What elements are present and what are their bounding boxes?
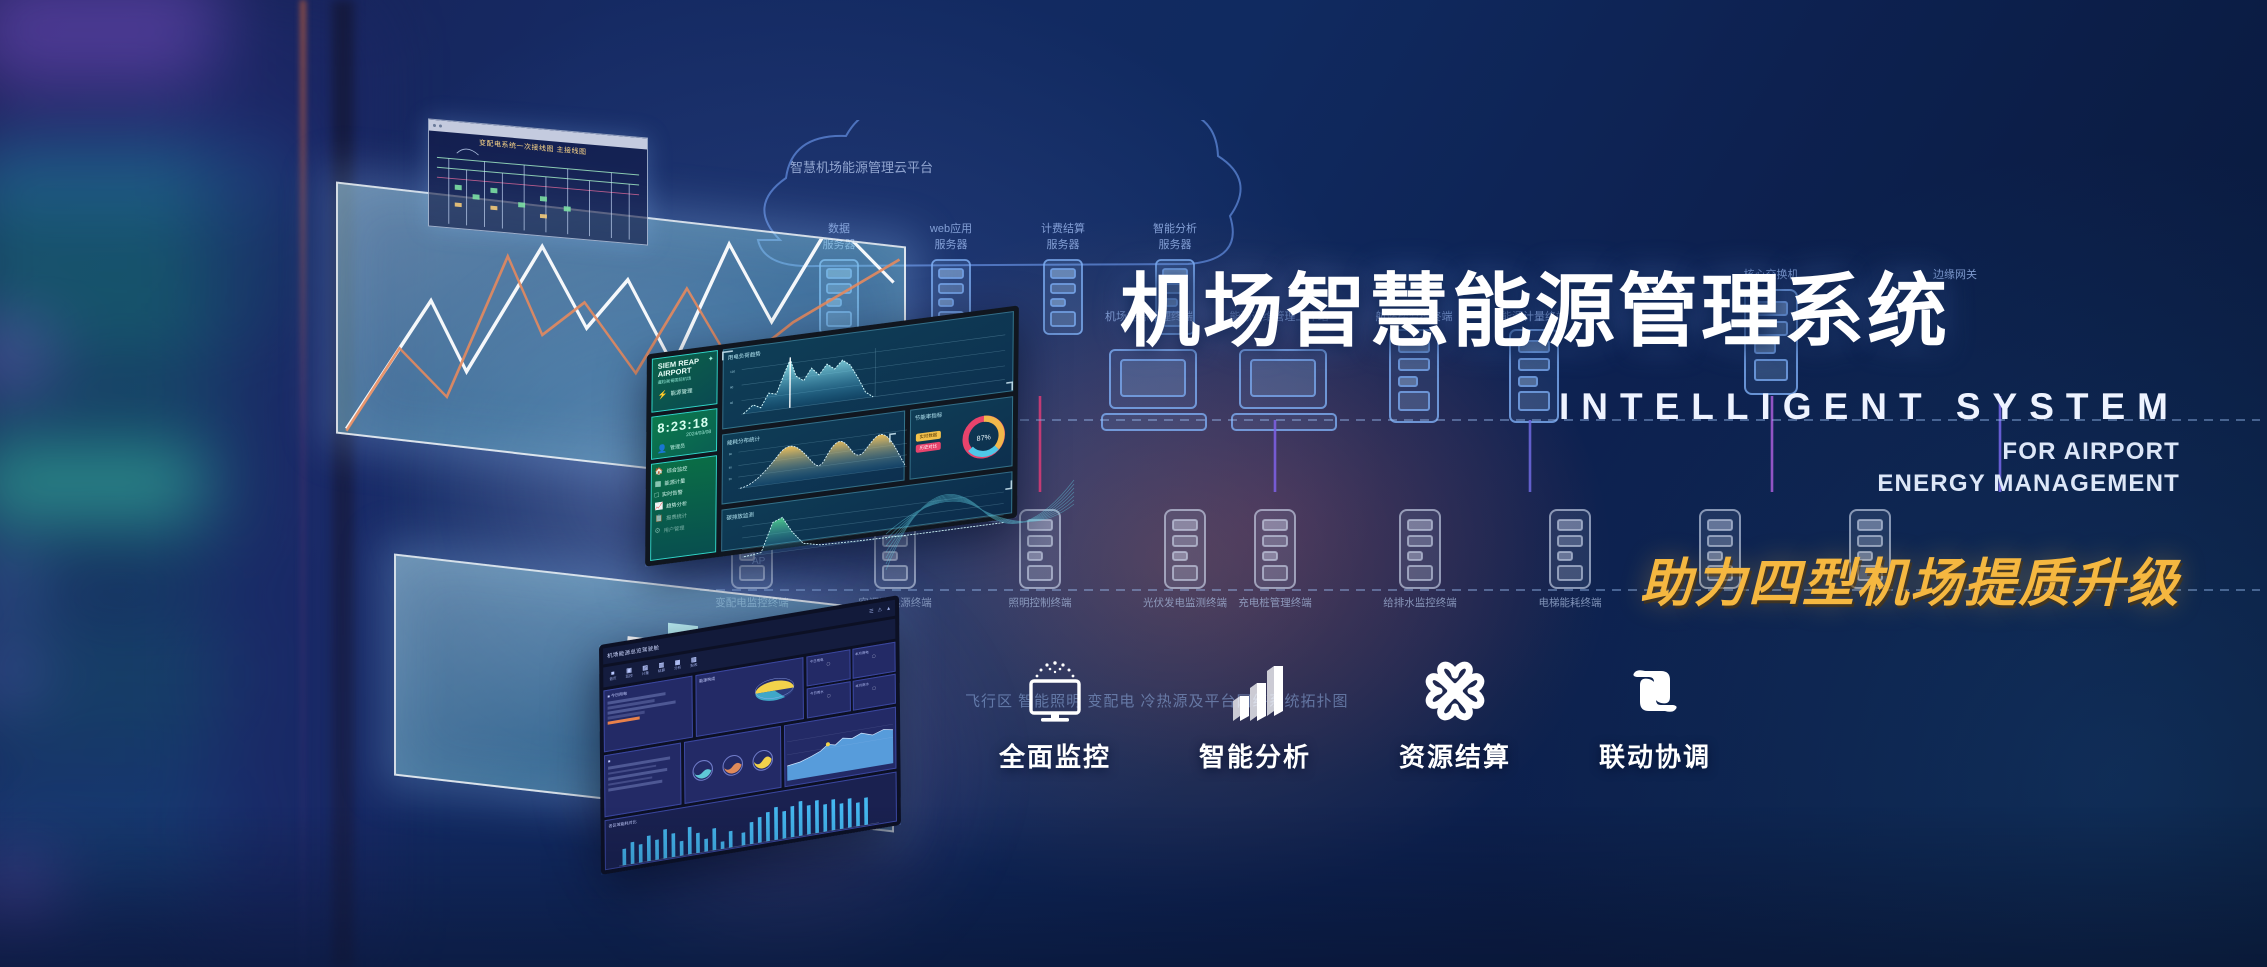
headline-english-sub: FOR AIRPORT ENERGY MANAGEMENT	[1120, 436, 2180, 499]
energy-icon: ⚡	[658, 389, 668, 399]
cloud-node-label: 计费结算	[1041, 221, 1085, 235]
monitor-signal-icon	[1019, 655, 1091, 727]
cloud-node-label: web应用	[929, 221, 972, 235]
cloud-node-label: 服务器	[935, 238, 968, 251]
headline-english-sub-line1: FOR AIRPORT	[2002, 438, 2180, 465]
tab[interactable]: ▥结算	[658, 661, 665, 674]
trend-icon: 📈	[655, 502, 664, 511]
cloud-node-label: 服务器	[1159, 238, 1192, 251]
topology-terminal-label: 照明控制终端	[1009, 596, 1072, 609]
feature-label: 资源结算	[1360, 737, 1550, 774]
svg-text:90: 90	[729, 452, 733, 456]
cloud-node-label: 数据	[828, 221, 850, 235]
feature-item-coordination[interactable]: 联动协调	[1560, 655, 1750, 774]
feature-label: 联动协调	[1560, 737, 1750, 774]
cloud-node-label: 服务器	[1047, 238, 1080, 251]
tab[interactable]: ■首页	[609, 670, 616, 682]
feature-item-settlement[interactable]: 资源结算	[1360, 655, 1550, 774]
report-icon: 📋	[654, 514, 663, 523]
brand-cn: 能源管理	[670, 387, 692, 398]
feature-label: 全面监控	[960, 737, 1150, 774]
dashboard2-title: 机场能源总览驾驶舱	[607, 643, 659, 660]
bar-chart-3d-icon	[1219, 655, 1291, 727]
alarm-icon: □	[655, 492, 659, 500]
feature-list: 全面监控 智能分析	[960, 655, 1840, 785]
gauge-power	[751, 746, 774, 773]
gauge-water	[692, 756, 715, 783]
headline-english-sub-line2: ENERGY MANAGEMENT	[1877, 470, 2180, 497]
dashboard-sidebar: ✦ SIEM REAP AIRPORT 暹粒吴哥国际机场 ⚡ 能源管理 8:23…	[650, 350, 718, 561]
headline-tagline: 助力四型机场提质升级	[1120, 541, 2180, 616]
tab[interactable]: ▤计量	[642, 664, 649, 677]
tab[interactable]: ▦分析	[674, 658, 681, 671]
dashboard-nav[interactable]: 🏠综合监控 ▦能源计量 □实时告警 📈趋势分析 📋报表统计 ⚙用户管理	[650, 455, 717, 561]
dashboard2-kpi-grid: 今日用电◌ 本月用电◌ 今日用水◌ 本月用水◌	[807, 642, 896, 719]
filter-icon[interactable]: ☰	[869, 608, 874, 615]
bell-icon[interactable]: ⚠	[878, 607, 883, 614]
cloud-node-label: 智能分析	[1153, 221, 1197, 235]
schematic-window: 变配电系统一次接线图 主接线图	[428, 118, 648, 245]
topology-cloud-title: 智慧机场能源管理云平台	[790, 160, 933, 175]
svg-text:80: 80	[730, 385, 734, 389]
feature-label: 智能分析	[1160, 737, 1350, 774]
tab[interactable]: ▣监控	[625, 667, 632, 680]
feature-item-monitoring[interactable]: 全面监控	[960, 655, 1150, 774]
banner-root: 智慧机场能源管理云平台 数据 服务器 web应用 服务器 计费结算 服务器 智能…	[0, 0, 2267, 967]
dashboard-clock-card: 8:23:18 2024/03/08 👤 管理员	[651, 408, 717, 460]
svg-text:60: 60	[729, 465, 733, 469]
page-title: 机场智慧能源管理系统	[1120, 272, 2180, 352]
user-icon: 👤	[657, 444, 667, 454]
interlocking-links-icon	[1619, 655, 1691, 727]
svg-text:30: 30	[729, 477, 733, 481]
dashboard-brand: ✦ SIEM REAP AIRPORT 暹粒吴哥国际机场 ⚡ 能源管理	[651, 350, 717, 413]
meter-icon: ▦	[655, 479, 662, 488]
tab[interactable]: ▧报表	[690, 656, 697, 669]
avatar[interactable]: ▲	[886, 605, 891, 612]
svg-text:40: 40	[730, 401, 734, 405]
dashboard2-info-card: ■ 今日用电	[603, 676, 692, 753]
user-label: 管理员	[670, 442, 685, 451]
gauge-gas	[721, 751, 744, 778]
wireframe-mesh-decoration	[880, 430, 1080, 580]
settings-icon: ⚙	[654, 527, 660, 536]
four-lobe-knot-icon	[1419, 655, 1491, 727]
svg-text:120: 120	[730, 369, 735, 374]
headline-english: INTELLIGENT SYSTEM	[1120, 386, 2180, 428]
feature-item-analysis[interactable]: 智能分析	[1160, 655, 1350, 774]
home-icon: 🏠	[655, 467, 664, 476]
headline-block: 机场智慧能源管理系统 INTELLIGENT SYSTEM FOR AIRPOR…	[1120, 272, 2180, 616]
bottom-vignette	[0, 807, 2267, 967]
